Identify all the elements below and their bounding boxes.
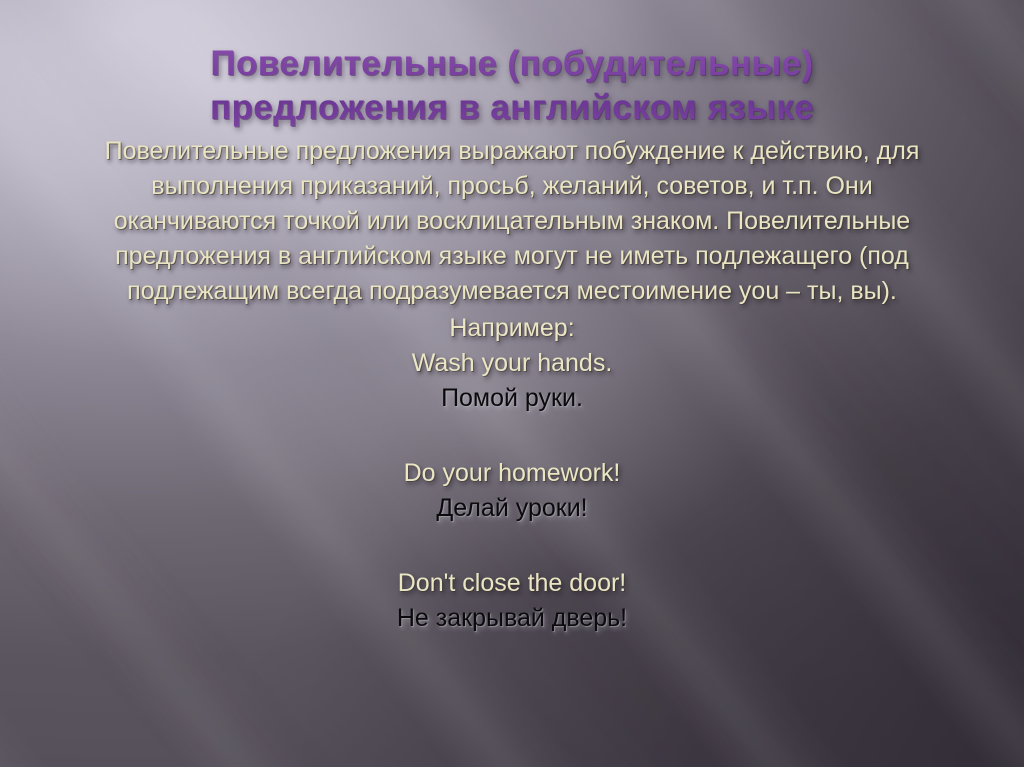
example-3-english: Don't close the door! xyxy=(0,566,1024,601)
examples-block: Например: Wash your hands. Помой руки. D… xyxy=(0,311,1024,636)
examples-intro-label: Например: xyxy=(0,311,1024,346)
slide-body-paragraph: Повелительные предложения выражают побуж… xyxy=(0,134,1024,309)
example-2-russian: Делай уроки! xyxy=(0,491,1024,526)
slide-title: Повелительные (побудительные) предложени… xyxy=(0,0,1024,130)
examples-spacer xyxy=(0,416,1024,456)
example-3-russian: Не закрывай дверь! xyxy=(0,601,1024,636)
example-1-english: Wash your hands. xyxy=(0,346,1024,381)
example-2-english: Do your homework! xyxy=(0,456,1024,491)
slide-content: Повелительные (побудительные) предложени… xyxy=(0,0,1024,767)
slide-title-line-1: Повелительные (побудительные) xyxy=(96,42,928,86)
presentation-slide: Повелительные (побудительные) предложени… xyxy=(0,0,1024,767)
example-1-russian: Помой руки. xyxy=(0,381,1024,416)
examples-spacer xyxy=(0,526,1024,566)
slide-title-line-2: предложения в английском языке xyxy=(96,86,928,130)
